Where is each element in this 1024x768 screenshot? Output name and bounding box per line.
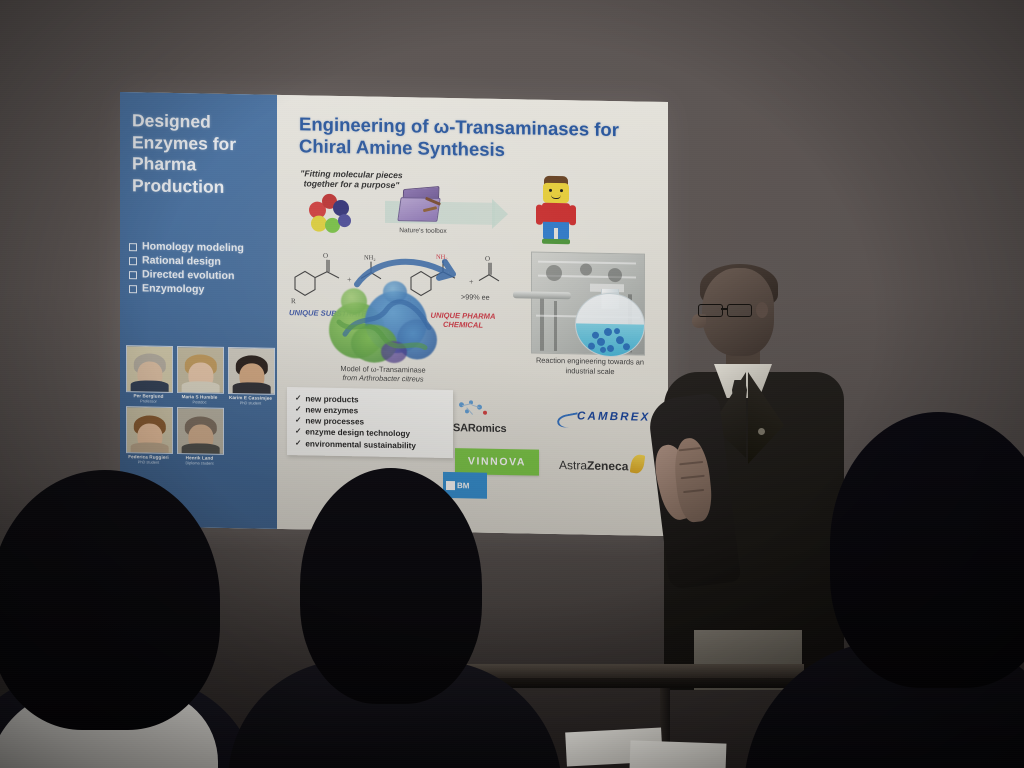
photo-vignette — [0, 0, 1024, 768]
lecture-room-scene: Designed Enzymes for Pharma Production H… — [0, 0, 1024, 768]
